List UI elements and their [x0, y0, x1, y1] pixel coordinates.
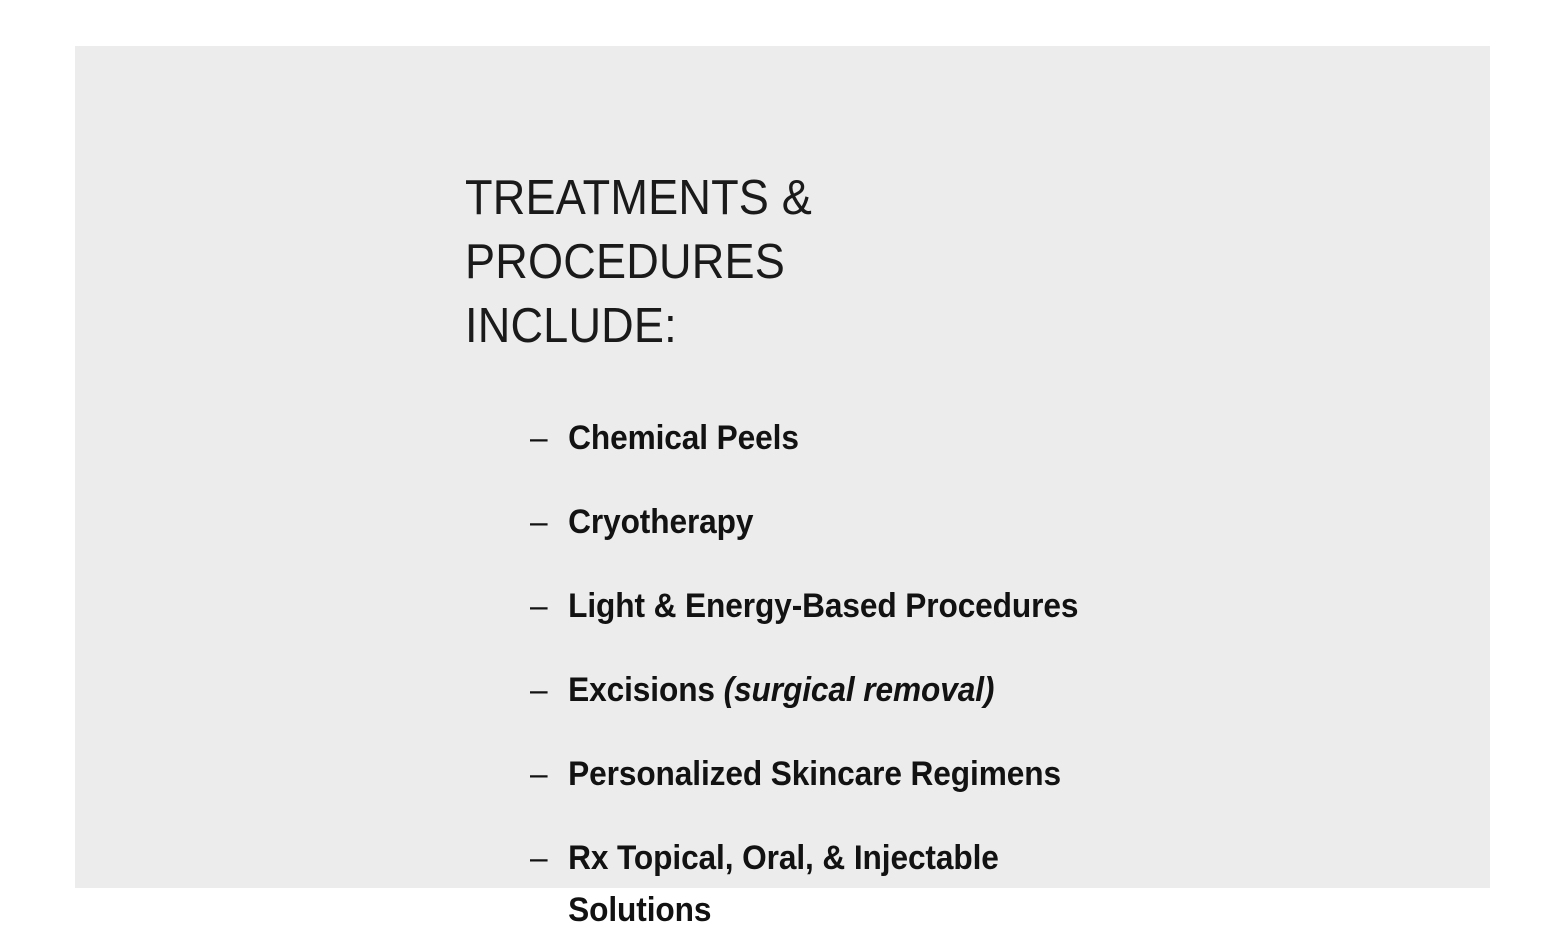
list-item-label: Personalized Skincare Regimens	[568, 755, 1061, 793]
dash-marker: –	[530, 748, 554, 800]
list-item: – Rx Topical, Oral, & Injectable Solutio…	[530, 832, 1145, 936]
list-item-label: Light & Energy-Based Procedures	[568, 587, 1078, 625]
treatments-list: – Chemical Peels – Cryotherapy – Light &…	[530, 412, 1510, 936]
content-column: TREATMENTS & PROCEDURES INCLUDE: – Chemi…	[465, 166, 1445, 882]
list-item: – Cryotherapy	[530, 496, 1145, 548]
list-item: – Chemical Peels	[530, 412, 1145, 464]
content-panel: TREATMENTS & PROCEDURES INCLUDE: – Chemi…	[75, 46, 1490, 888]
slide-root: TREATMENTS & PROCEDURES INCLUDE: – Chemi…	[0, 0, 1563, 938]
list-item: – Excisions (surgical removal)	[530, 664, 1145, 716]
list-item-label: Excisions	[568, 671, 723, 709]
list-item-label-continued: Solutions	[568, 884, 1145, 936]
page-title: TREATMENTS & PROCEDURES INCLUDE:	[465, 166, 1100, 358]
dash-marker: –	[530, 832, 554, 884]
dash-marker: –	[530, 580, 554, 632]
dash-marker: –	[530, 496, 554, 548]
list-item: – Light & Energy-Based Procedures	[530, 580, 1145, 632]
list-item-label: Rx Topical, Oral, & Injectable	[568, 839, 999, 877]
dash-marker: –	[530, 412, 554, 464]
list-item-label: Chemical Peels	[568, 419, 799, 457]
list-item-label: Cryotherapy	[568, 503, 753, 541]
dash-marker: –	[530, 664, 554, 716]
list-item: – Personalized Skincare Regimens	[530, 748, 1145, 800]
list-item-note: (surgical removal)	[724, 671, 995, 709]
